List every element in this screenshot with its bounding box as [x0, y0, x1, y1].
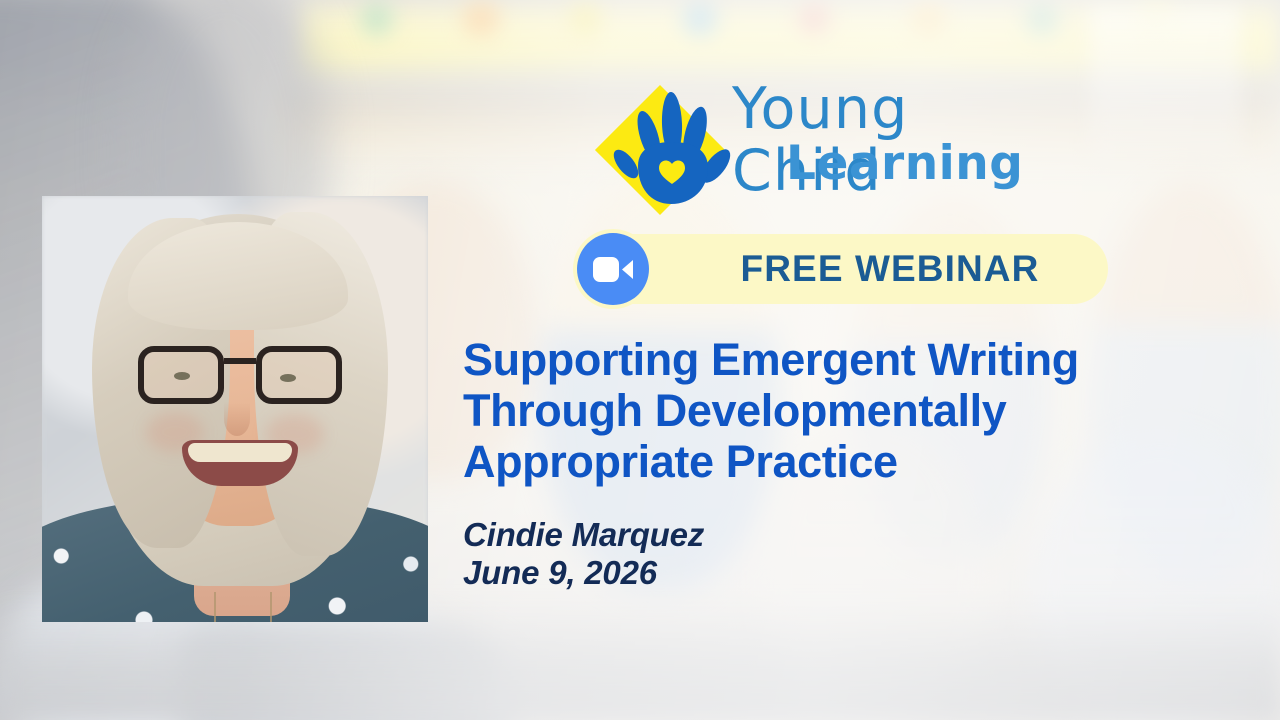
- presenter-details: Cindie Marquez June 9, 2026: [463, 516, 1083, 592]
- presenter-name: Cindie Marquez: [463, 516, 1083, 554]
- title-line-1: Supporting Emergent Writing: [463, 334, 1163, 385]
- necklace: [214, 592, 272, 622]
- smiling-mouth: [182, 440, 298, 486]
- handprint-logo-icon: [604, 86, 736, 211]
- zoom-video-camera-icon: [577, 233, 649, 305]
- lens-left: [138, 346, 224, 404]
- speaker-headshot-photo: [42, 196, 428, 622]
- logo-wordmark-learning: Learning: [786, 136, 1023, 192]
- brand-logo: Young Child Learning: [604, 78, 1034, 214]
- eyeglasses-icon: [138, 346, 342, 408]
- title-line-2: Through Developmentally: [463, 385, 1163, 436]
- webinar-title: Supporting Emergent Writing Through Deve…: [463, 334, 1163, 487]
- teeth: [188, 443, 292, 462]
- lens-right: [256, 346, 342, 404]
- free-webinar-badge[interactable]: FREE WEBINAR: [578, 234, 1108, 304]
- webinar-date: June 9, 2026: [463, 554, 1083, 592]
- webinar-promo-slide: Young Child Learning FREE WEBINAR Suppor…: [0, 0, 1280, 720]
- title-line-3: Appropriate Practice: [463, 436, 1163, 487]
- blue-handprint-icon: [604, 86, 736, 211]
- badge-label: FREE WEBINAR: [700, 234, 1080, 304]
- glasses-bridge: [224, 358, 256, 364]
- nose: [224, 402, 250, 436]
